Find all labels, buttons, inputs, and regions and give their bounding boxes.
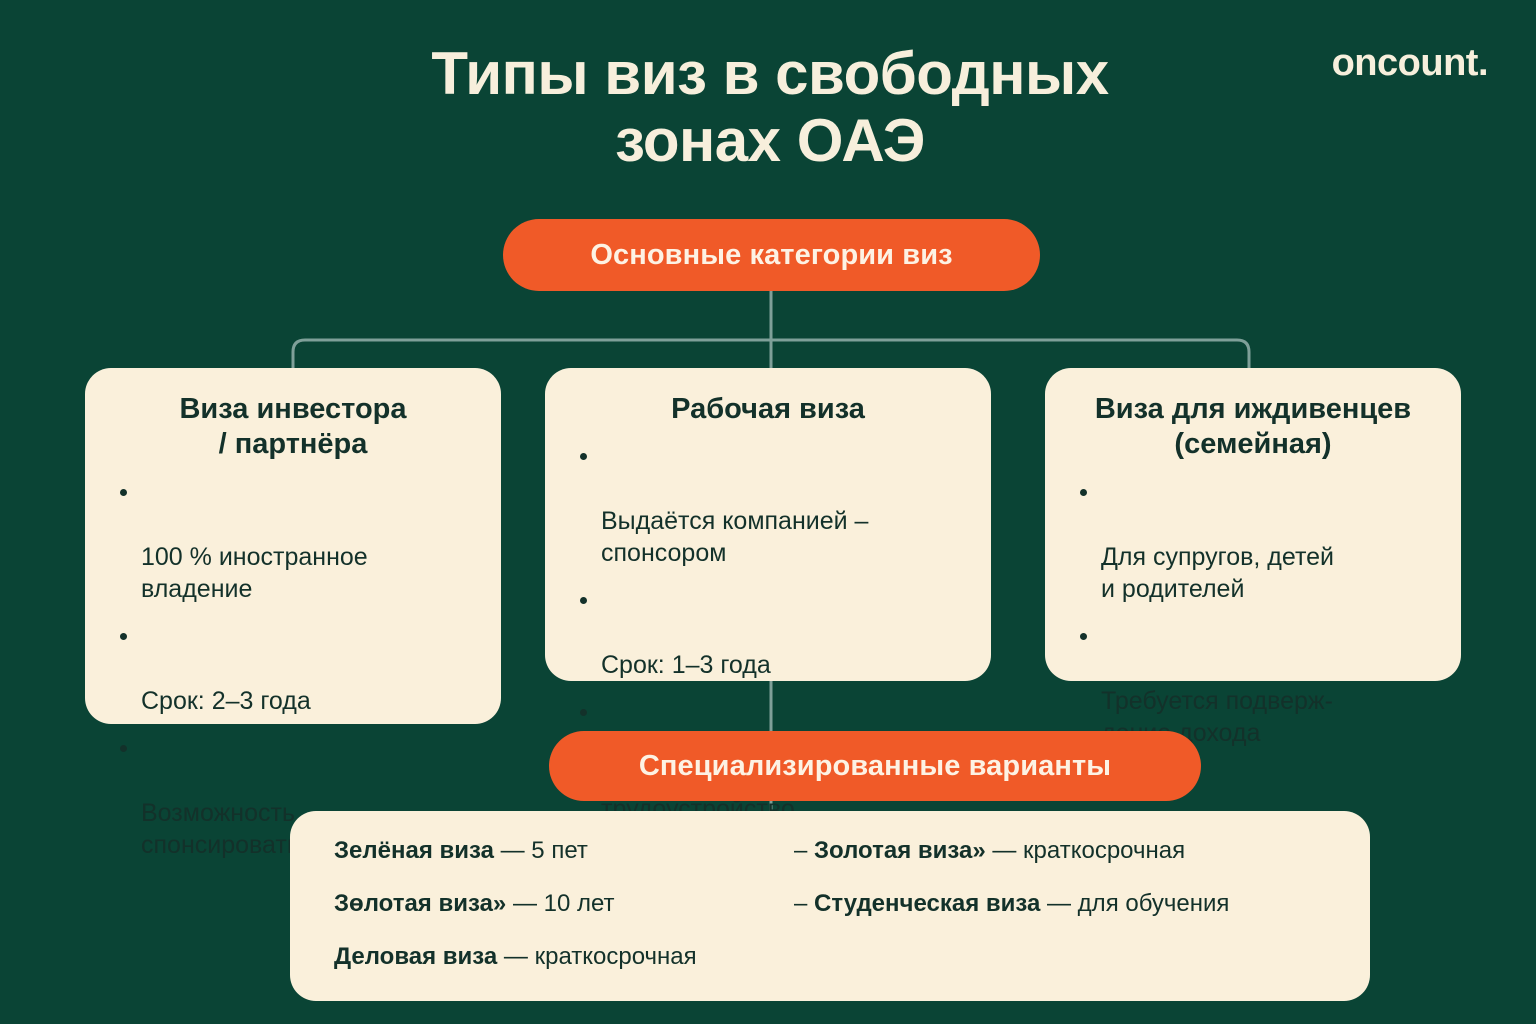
card-investor-bullets: 100 % иностранное владение Срок: 2–3 год… — [111, 477, 475, 861]
item-rest: — для обучения — [1040, 890, 1229, 917]
list-item-text: Выдаётся компанией – спонсором — [601, 507, 868, 567]
card-dependent-title: Виза для иждивенцев (семейная) — [1071, 392, 1435, 463]
connector-branch-bus — [293, 340, 1249, 368]
bullet-dot-icon — [580, 597, 587, 604]
list-item: Требуется подверж- дение дохода — [1075, 621, 1435, 749]
list-item-text: Срок: 1–3 года — [601, 651, 771, 679]
specialized-item: Зелёная виза — 5 пет — [334, 837, 794, 866]
list-item-text: Для супругов, детей и родителей — [1101, 543, 1334, 603]
oncount-logo: oncount. — [1332, 44, 1488, 82]
item-lead: Зөлотая виза» — [334, 890, 506, 917]
list-item: Для супругов, детей и родителей — [1075, 477, 1435, 605]
specialized-options-node[interactable]: Специализированные варианты — [549, 731, 1201, 801]
item-dash-prefix: – — [794, 890, 814, 917]
main-category-label: Основные категории виз — [590, 239, 952, 272]
specialized-item: Зөлотая виза» — 10 лет — [334, 890, 794, 919]
item-lead: Зелёная виза — [334, 837, 494, 864]
bullet-dot-icon — [1080, 633, 1087, 640]
item-lead: Золотая виза» — [814, 837, 986, 864]
specialized-right-column: – Золотая виза» — краткосрочная – Студен… — [794, 837, 1374, 975]
list-item: Срок: 1–3 года — [575, 585, 965, 681]
bullet-dot-icon — [120, 489, 127, 496]
page-title: Типы виз в свободных зонах ОАЭ — [300, 40, 1240, 174]
card-investor-visa[interactable]: Виза инвестора / партнёра 100 % иностран… — [85, 368, 501, 724]
list-item-text: 100 % иностранное владение — [141, 543, 368, 603]
specialized-left-column: Зелёная виза — 5 пет Зөлотая виза» — 10 … — [334, 837, 794, 975]
card-dependent-visa[interactable]: Виза для иждивенцев (семейная) Для супру… — [1045, 368, 1461, 681]
bullet-dot-icon — [120, 745, 127, 752]
bullet-dot-icon — [580, 709, 587, 716]
list-item-text: Срок: 2–3 года — [141, 687, 311, 715]
infographic-canvas: oncount. Типы виз в свободных зонах ОАЭ … — [0, 0, 1536, 1024]
specialized-item: – Золотая виза» — краткосрочная — [794, 837, 1374, 866]
bullet-dot-icon — [1080, 489, 1087, 496]
list-item: 100 % иностранное владение — [115, 477, 475, 605]
item-lead: Деловая виза — [334, 943, 497, 970]
item-rest: — краткосрочная — [986, 837, 1185, 864]
bullet-dot-icon — [120, 633, 127, 640]
item-dash-prefix: – — [794, 837, 814, 864]
item-lead: Студенческая виза — [814, 890, 1040, 917]
list-item: Срок: 2–3 года — [115, 621, 475, 717]
specialized-item: Деловая виза — краткосрочная — [334, 943, 794, 972]
card-dependent-bullets: Для супругов, детей и родителей Требуетс… — [1071, 477, 1435, 749]
bullet-dot-icon — [580, 453, 587, 460]
item-rest: — краткосрочная — [497, 943, 696, 970]
specialized-item: – Студенческая виза — для обучения — [794, 890, 1374, 919]
card-investor-title: Виза инвестора / партнёра — [111, 392, 475, 463]
specialized-options-label: Специализированные варианты — [639, 750, 1111, 783]
list-item: Выдаётся компанией – спонсором — [575, 441, 965, 569]
specialized-options-panel[interactable]: Зелёная виза — 5 пет Зөлотая виза» — 10 … — [290, 811, 1370, 1001]
main-category-node[interactable]: Основные категории виз — [503, 219, 1040, 291]
item-rest: — 10 лет — [506, 890, 614, 917]
card-work-visa[interactable]: Рабочая виза Выдаётся компанией – спонсо… — [545, 368, 991, 681]
item-rest: — 5 пет — [494, 837, 588, 864]
card-work-title: Рабочая виза — [571, 392, 965, 427]
